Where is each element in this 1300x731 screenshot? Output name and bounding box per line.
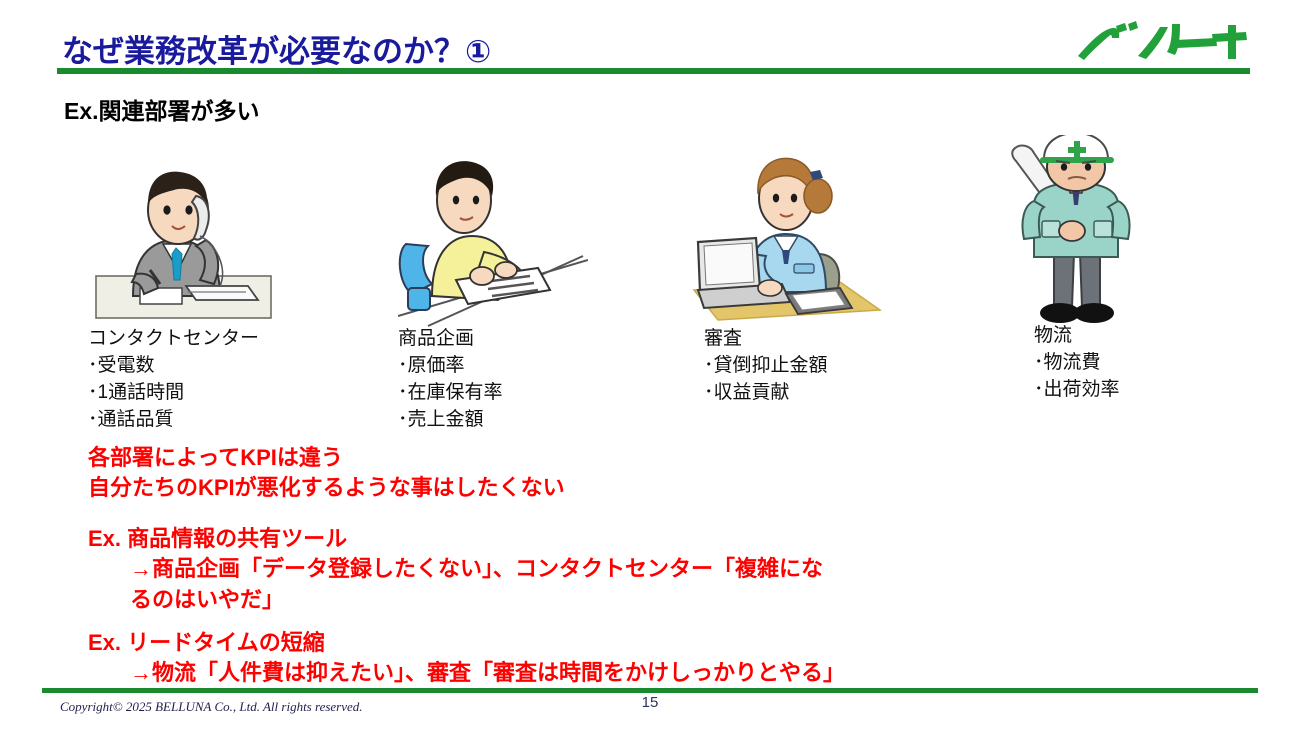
header-divider bbox=[57, 68, 1250, 74]
department-kpi-item: ･物流費 bbox=[1034, 350, 1120, 377]
warehouse-worker-with-helmet-illustration bbox=[1000, 135, 1160, 330]
example-heading: Ex. 商品情報の共有ツール bbox=[88, 524, 823, 554]
example-heading: Ex. リードタイムの短縮 bbox=[88, 628, 845, 658]
kpi-difference-message: 各部署によってKPIは違う 自分たちのKPIが悪化するような事はしたくない bbox=[88, 443, 565, 504]
department-kpi-item: ･収益貢献 bbox=[704, 380, 828, 407]
department-card-contact-center: コンタクトセンター ･受電数 ･1通話時間 ･通話品質 bbox=[88, 148, 318, 448]
department-card-screening: 審査 ･貸倒抑止金額 ･収益貢献 bbox=[690, 142, 920, 442]
department-kpi-item: ･原価率 bbox=[398, 353, 503, 380]
woman-using-laptop-illustration bbox=[690, 142, 885, 327]
department-card-logistics: 物流 ･物流費 ･出荷効率 bbox=[1000, 135, 1230, 435]
belluna-logo bbox=[1072, 20, 1252, 66]
kpi-message-line: 各部署によってKPIは違う bbox=[88, 443, 565, 473]
section-subheading: Ex.関連部署が多い bbox=[64, 92, 260, 126]
department-name: 審査 bbox=[704, 326, 828, 353]
department-kpi-item: ･1通話時間 bbox=[88, 380, 259, 407]
department-name: 商品企画 bbox=[398, 326, 503, 353]
department-kpi-item: ･売上金額 bbox=[398, 407, 503, 434]
slide-canvas: なぜ業務改革が必要なのか？① Ex.関連部署が多い bbox=[0, 0, 1300, 731]
department-kpi-item: ･通話品質 bbox=[88, 407, 259, 434]
example-block-shared-product-info: Ex. 商品情報の共有ツール →商品企画「データ登録したくない」、コンタクトセン… bbox=[88, 524, 823, 615]
page-title: なぜ業務改革が必要なのか？① bbox=[62, 26, 491, 71]
man-on-phone-at-desk-illustration bbox=[88, 148, 288, 328]
footer-divider bbox=[42, 688, 1258, 693]
department-name: コンタクトセンター bbox=[88, 326, 259, 353]
department-kpi-item: ･在庫保有率 bbox=[398, 380, 503, 407]
example-block-lead-time: Ex. リードタイムの短縮 →物流「人件費は抑えたい」、審査「審査は時間をかけし… bbox=[88, 628, 845, 689]
department-card-product-planning: 商品企画 ･原価率 ･在庫保有率 ･売上金額 bbox=[398, 148, 628, 448]
example-detail-line: →商品企画「データ登録したくない」、コンタクトセンター「複雑にな bbox=[88, 554, 823, 584]
department-name: 物流 bbox=[1034, 323, 1120, 350]
page-number: 15 bbox=[0, 694, 1300, 711]
example-detail-line: →物流「人件費は抑えたい」、審査「審査は時間をかけしっかりとやる」 bbox=[88, 658, 845, 688]
department-kpi-item: ･受電数 bbox=[88, 353, 259, 380]
department-kpi-item: ･貸倒抑止金額 bbox=[704, 353, 828, 380]
man-writing-at-desk-illustration bbox=[398, 148, 588, 328]
example-detail-line: るのはいやだ」 bbox=[88, 585, 823, 615]
department-kpi-item: ･出荷効率 bbox=[1034, 377, 1120, 404]
kpi-message-line: 自分たちのKPIが悪化するような事はしたくない bbox=[88, 473, 565, 503]
